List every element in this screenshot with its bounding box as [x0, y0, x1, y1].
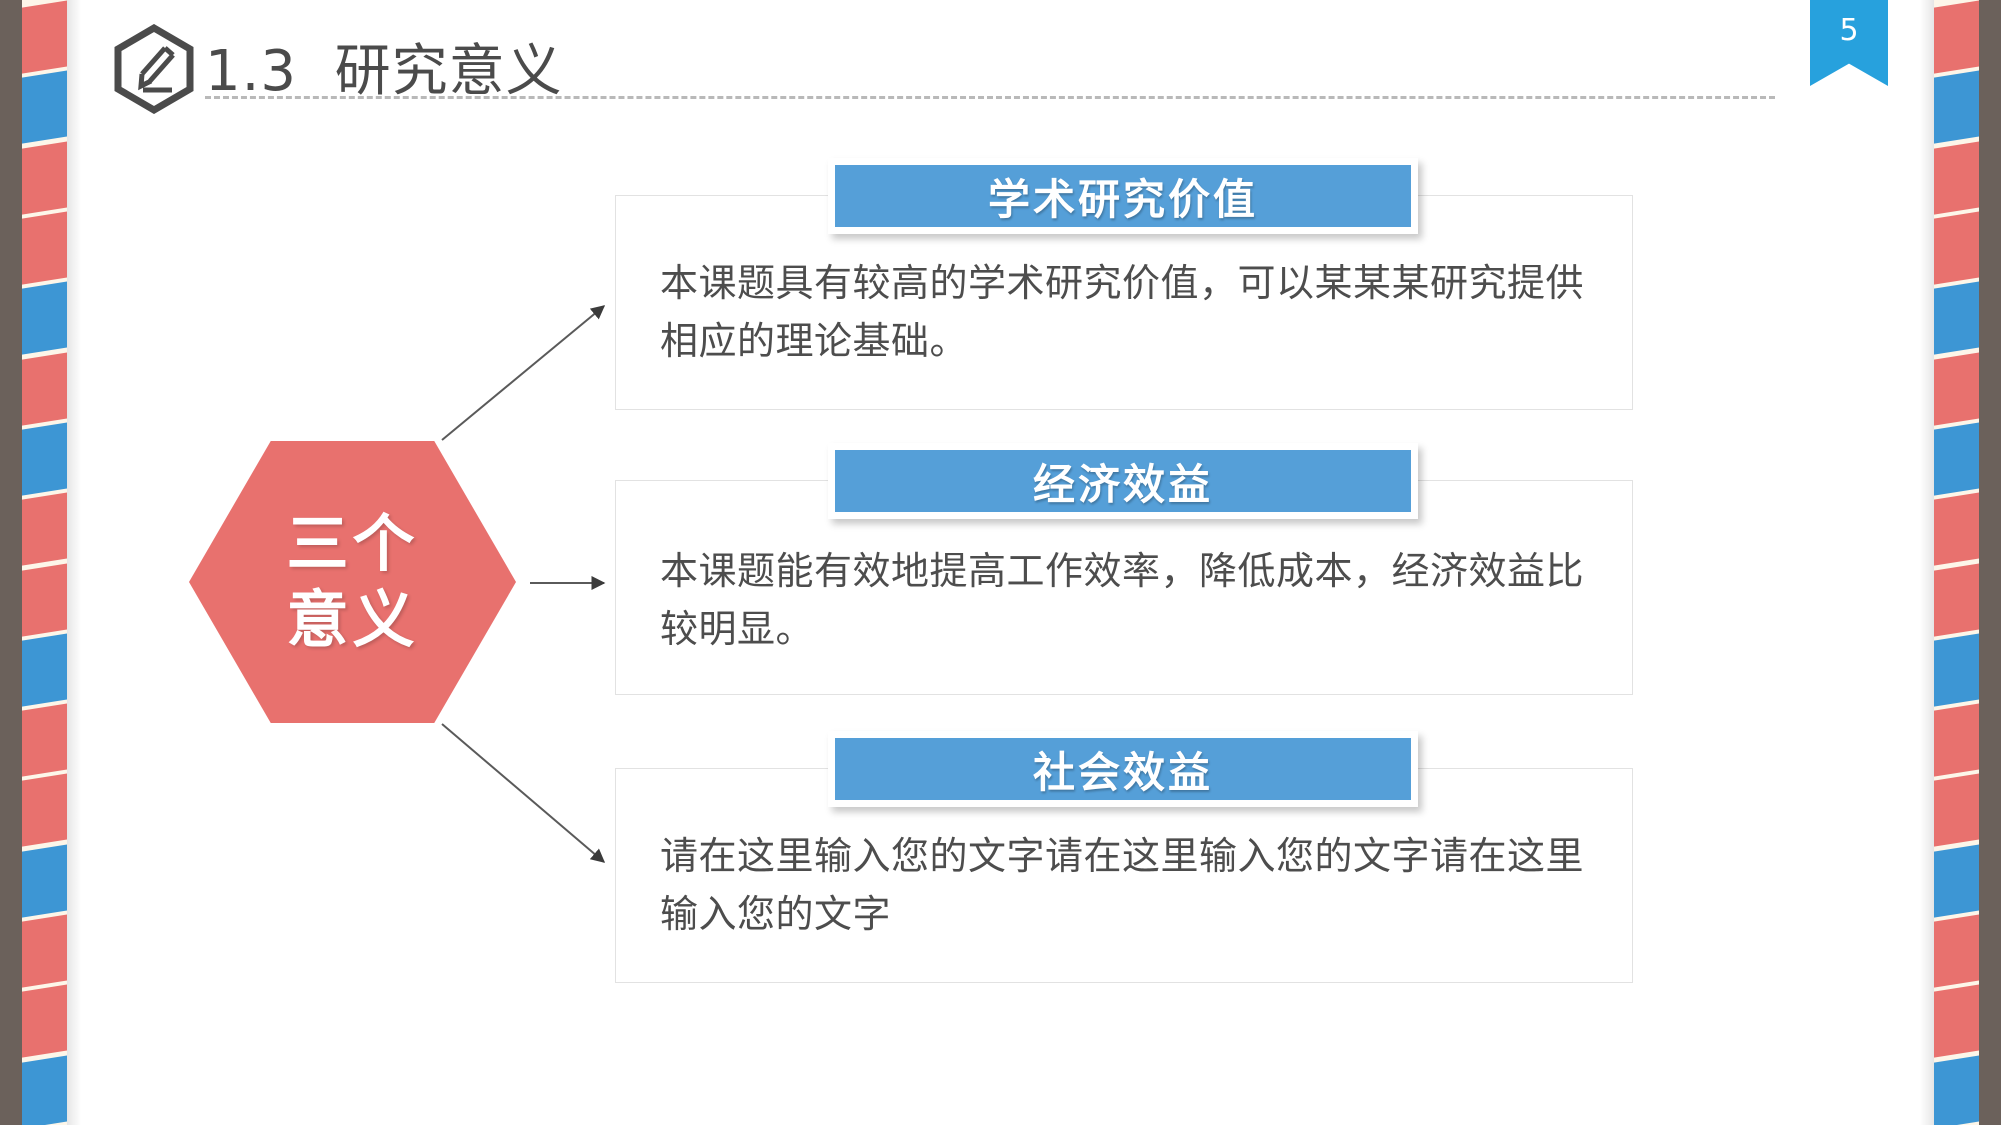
hexagon-label-line-2: 意义	[286, 582, 418, 658]
airmail-dash-blue	[1934, 637, 1979, 703]
item-2-body-text: 本课题能有效地提高工作效率，降低成本，经济效益比较明显。	[660, 543, 1593, 659]
airmail-dash-blue	[1934, 1059, 1979, 1125]
airmail-dash-fill	[1934, 843, 1979, 918]
airmail-dash-red	[1934, 215, 1979, 281]
slide-header: 1.3 研究意义	[0, 0, 2001, 120]
left-edge-dark-strip	[0, 0, 22, 1125]
airmail-dash-fill	[1934, 562, 1979, 637]
airmail-dash-fill	[1934, 772, 1979, 847]
page-title-number: 1.3	[205, 39, 297, 104]
hex-pencil-icon	[110, 24, 198, 114]
airmail-dash-fill	[22, 210, 67, 285]
airmail-dash-fill	[22, 983, 67, 1058]
airmail-dash-fill	[22, 280, 67, 355]
airmail-dash-fill	[1934, 632, 1979, 707]
airmail-dash-red	[1934, 777, 1979, 843]
airmail-dash-blue	[22, 1059, 67, 1125]
airmail-dash-fill	[22, 772, 67, 847]
page-number-label: 5	[1839, 16, 1858, 46]
airmail-dash-blue	[22, 848, 67, 914]
airmail-dash-fill	[1934, 983, 1979, 1058]
airmail-dash-red	[1934, 918, 1979, 984]
airmail-dash-fill	[22, 702, 67, 777]
airmail-dash-red	[22, 496, 67, 562]
airmail-dash-fill	[1934, 421, 1979, 496]
slide-canvas: 1.3 研究意义 5 三个 意义 本课题具有较高的学术研究价值，可以某某某研究提…	[0, 0, 2001, 1125]
item-3-heading-bar[interactable]: 社会效益	[828, 731, 1418, 807]
airmail-dash-red	[22, 988, 67, 1054]
airmail-dash-red	[1934, 707, 1979, 773]
airmail-dash-fill	[22, 843, 67, 918]
page-title: 1.3 研究意义	[205, 26, 563, 107]
item-2-heading-bar[interactable]: 经济效益	[828, 443, 1418, 519]
item-1-heading-bar[interactable]: 学术研究价值	[828, 158, 1418, 234]
airmail-dash-fill	[22, 491, 67, 566]
airmail-dash-red	[22, 918, 67, 984]
airmail-dash-fill	[22, 562, 67, 637]
central-hexagon: 三个 意义	[180, 432, 525, 732]
arrow-to-item-1	[442, 306, 604, 440]
page-title-text: 研究意义	[335, 39, 563, 104]
right-edge-dark-strip	[1979, 0, 2001, 1125]
airmail-dash-fill	[22, 1054, 67, 1125]
airmail-dash-fill	[1934, 1054, 1979, 1125]
airmail-dash-red	[22, 567, 67, 633]
airmail-dash-blue	[22, 285, 67, 351]
airmail-dash-red	[1934, 567, 1979, 633]
airmail-dash-blue	[1934, 848, 1979, 914]
item-3-body-text: 请在这里输入您的文字请在这里输入您的文字请在这里输入您的文字	[660, 828, 1593, 944]
airmail-dash-red	[1934, 496, 1979, 562]
airmail-dash-fill	[22, 421, 67, 496]
right-airmail-stripe-band	[1934, 0, 1979, 1125]
airmail-dash-blue	[1934, 426, 1979, 492]
left-airmail-stripe-band	[22, 0, 67, 1125]
airmail-dash-fill	[1934, 140, 1979, 215]
item-1-heading-label: 学术研究价值	[988, 166, 1258, 227]
airmail-dash-red	[1934, 988, 1979, 1054]
airmail-dash-fill	[1934, 351, 1979, 426]
airmail-dash-red	[1934, 356, 1979, 422]
title-dashed-rule	[205, 96, 1775, 99]
airmail-dash-fill	[22, 913, 67, 988]
airmail-dash-red	[22, 356, 67, 422]
airmail-dash-red	[22, 215, 67, 281]
airmail-dash-fill	[1934, 491, 1979, 566]
airmail-dash-blue	[1934, 285, 1979, 351]
airmail-dash-red	[22, 707, 67, 773]
airmail-dash-fill	[1934, 280, 1979, 355]
item-1-body-text: 本课题具有较高的学术研究价值，可以某某某研究提供相应的理论基础。	[660, 255, 1593, 371]
airmail-dash-fill	[22, 351, 67, 426]
airmail-dash-red	[1934, 145, 1979, 211]
hexagon-label: 三个 意义	[180, 432, 525, 732]
left-band-shadow	[67, 0, 81, 1125]
airmail-dash-blue	[22, 637, 67, 703]
airmail-dash-blue	[22, 426, 67, 492]
item-2-heading-label: 经济效益	[1033, 451, 1213, 512]
hexagon-label-line-1: 三个	[286, 506, 418, 582]
airmail-dash-fill	[1934, 702, 1979, 777]
airmail-dash-fill	[1934, 210, 1979, 285]
airmail-dash-fill	[22, 632, 67, 707]
airmail-dash-fill	[22, 140, 67, 215]
airmail-dash-red	[22, 145, 67, 211]
right-band-shadow	[1920, 0, 1934, 1125]
airmail-dash-red	[22, 777, 67, 843]
arrow-to-item-3	[442, 724, 604, 862]
airmail-dash-fill	[1934, 913, 1979, 988]
item-3-heading-label: 社会效益	[1033, 739, 1213, 800]
